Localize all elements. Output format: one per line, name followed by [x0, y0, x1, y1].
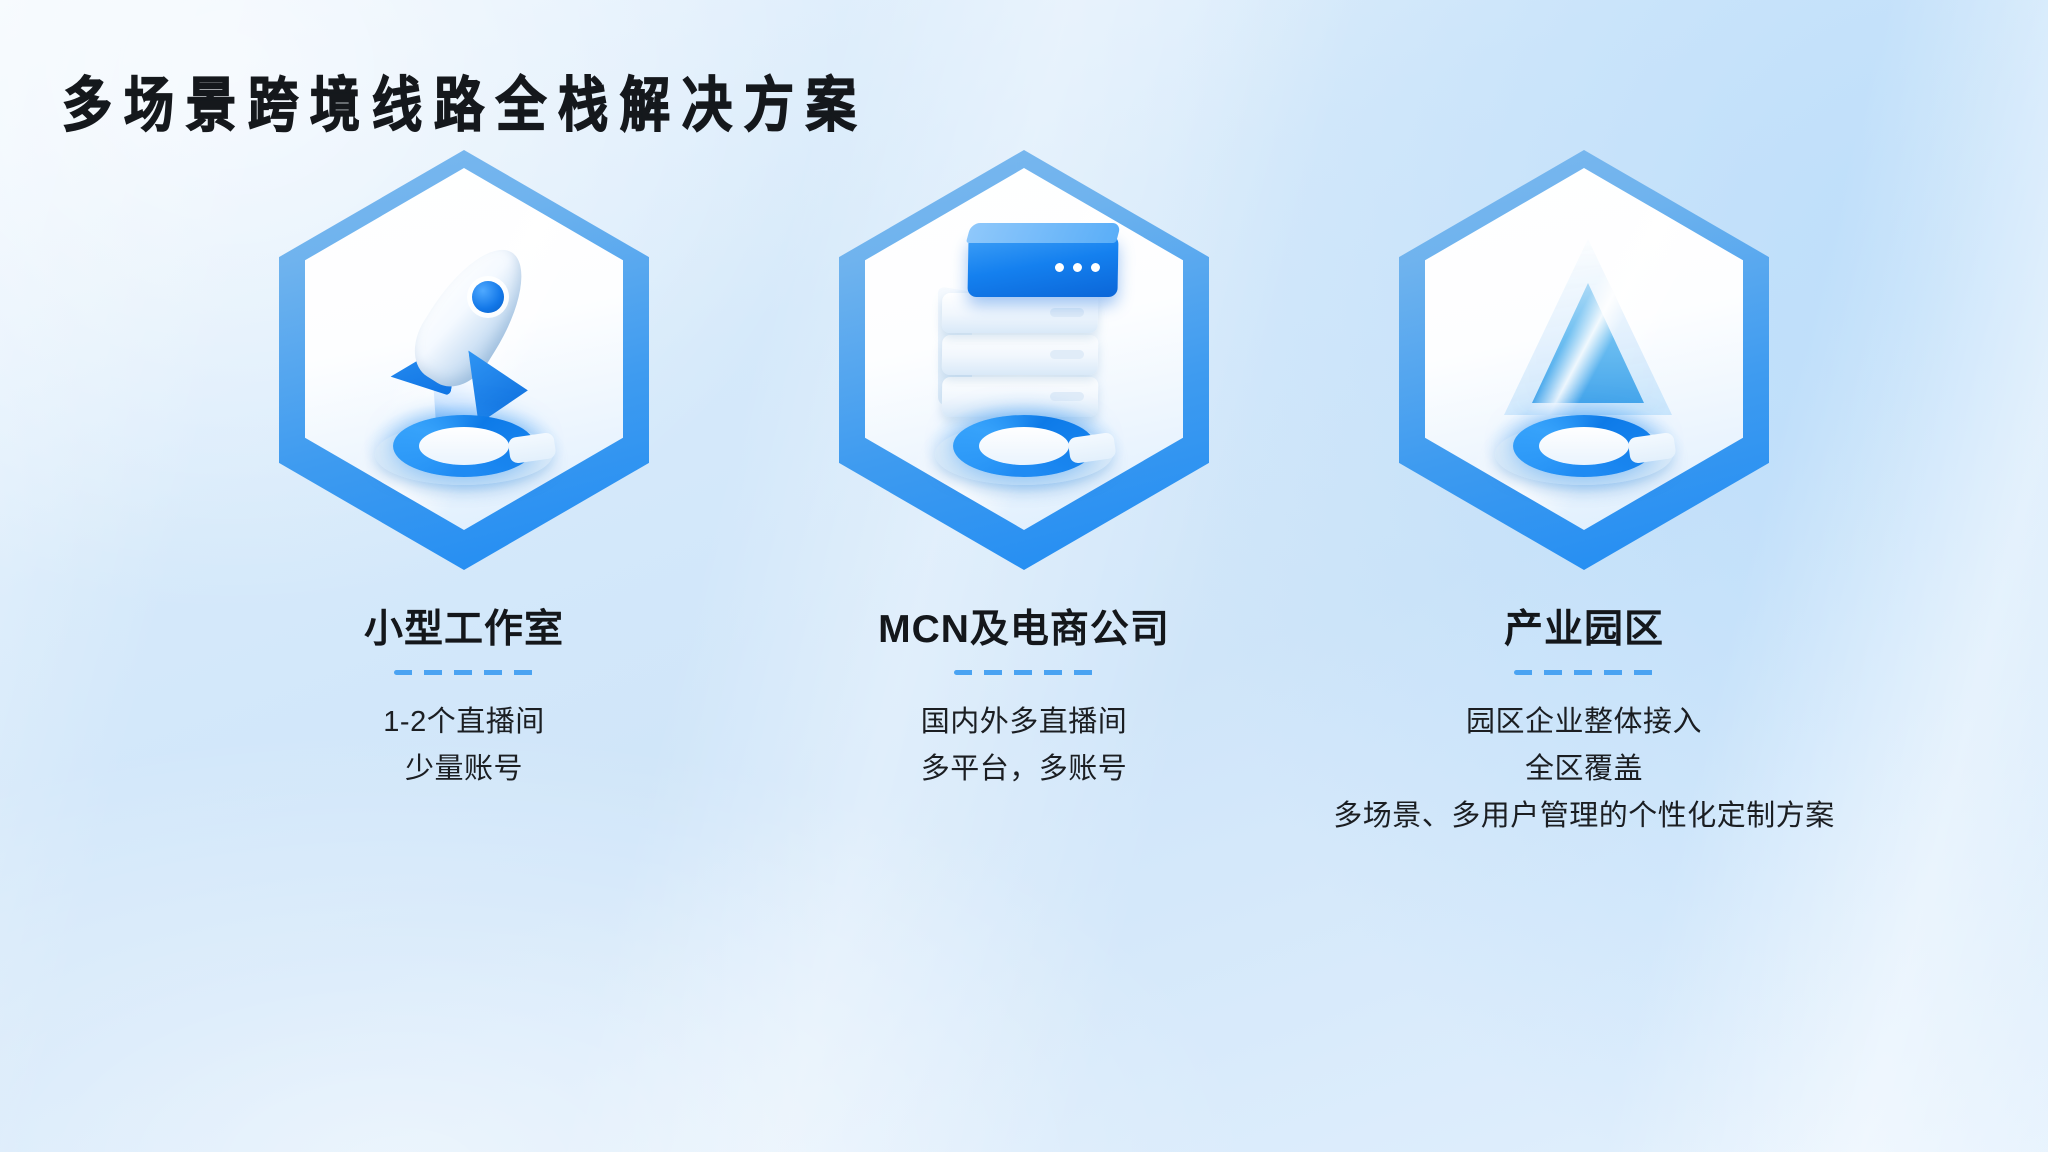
- glow-disc-base: [1489, 409, 1679, 487]
- hexagon-badge: [274, 150, 654, 580]
- glow-disc-base: [369, 409, 559, 487]
- disc-ring-inner: [1539, 427, 1629, 465]
- card-line: 国内外多直播间: [921, 699, 1128, 746]
- card-line: 园区企业整体接入: [1333, 699, 1835, 746]
- stack-slab: [942, 335, 1099, 375]
- stack-status-dots: [1055, 263, 1100, 272]
- triangle-park-icon: [1434, 215, 1734, 515]
- card-title: MCN及电商公司: [878, 598, 1170, 654]
- card-divider: [954, 670, 1094, 675]
- stack-top-lid: [966, 223, 1121, 243]
- server-stack-glyph: [934, 227, 1124, 437]
- solution-card-industrial-park[interactable]: 产业园区 园区企业整体接入 全区覆盖 多场景、多用户管理的个性化定制方案: [1304, 150, 1864, 840]
- triangle-sheen: [1504, 239, 1672, 415]
- rocket-icon: [314, 215, 614, 515]
- card-line: 少量账号: [383, 746, 544, 793]
- disc-ring-inner: [419, 427, 509, 465]
- solution-card-mcn-ecommerce[interactable]: MCN及电商公司 国内外多直播间 多平台，多账号: [744, 150, 1304, 793]
- rocket-window: [472, 281, 504, 313]
- glow-disc-base: [929, 409, 1119, 487]
- card-description: 1-2个直播间 少量账号: [383, 699, 544, 793]
- card-line: 1-2个直播间: [383, 699, 544, 746]
- stack-slab: [942, 293, 1099, 333]
- card-description: 国内外多直播间 多平台，多账号: [921, 699, 1128, 793]
- server-stack-icon: [874, 215, 1174, 515]
- card-line: 多场景、多用户管理的个性化定制方案: [1333, 793, 1835, 840]
- page-title: 多场景跨境线路全栈解决方案: [62, 58, 868, 143]
- solution-card-list: 小型工作室 1-2个直播间 少量账号: [0, 150, 2048, 1050]
- disc-ring-inner: [979, 427, 1069, 465]
- card-title: 小型工作室: [364, 598, 564, 654]
- card-description: 园区企业整体接入 全区覆盖 多场景、多用户管理的个性化定制方案: [1333, 699, 1835, 840]
- solution-card-small-studio[interactable]: 小型工作室 1-2个直播间 少量账号: [184, 150, 744, 793]
- card-line: 多平台，多账号: [921, 746, 1128, 793]
- triangle-glyph: [1482, 229, 1692, 439]
- hexagon-badge: [834, 150, 1214, 580]
- hexagon-badge: [1394, 150, 1774, 580]
- card-title: 产业园区: [1504, 598, 1664, 654]
- card-divider: [1514, 670, 1654, 675]
- rocket-glyph: [376, 237, 556, 437]
- card-line: 全区覆盖: [1333, 746, 1835, 793]
- card-divider: [394, 670, 534, 675]
- stack-top-server: [967, 235, 1118, 297]
